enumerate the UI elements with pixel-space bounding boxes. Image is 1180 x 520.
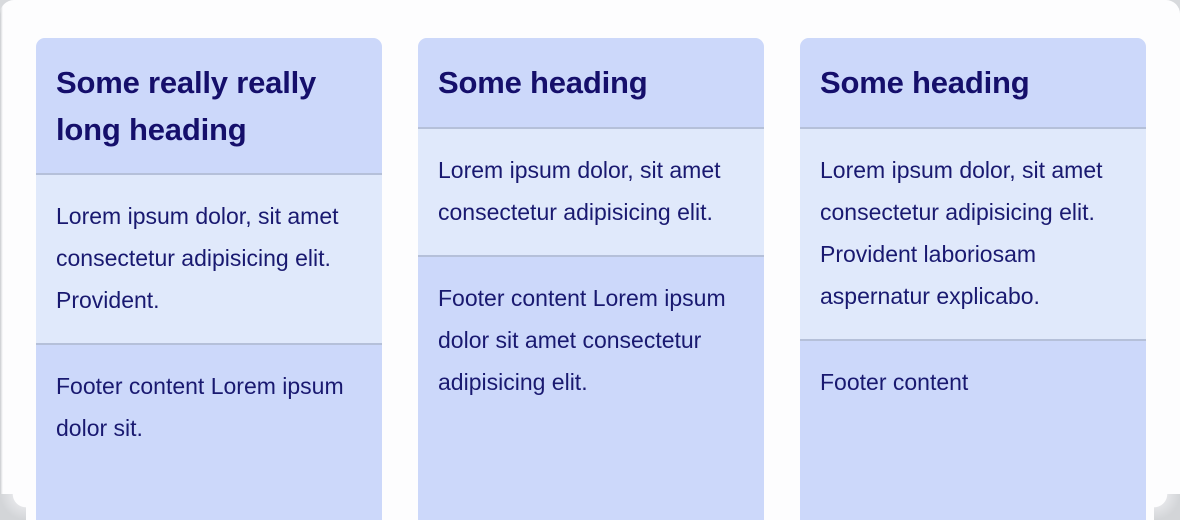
card-heading: Some really really long heading [56,60,362,153]
card-body: Lorem ipsum dolor, sit amet consectetur … [800,129,1146,341]
card-body-text: Lorem ipsum dolor, sit amet consectetur … [56,195,362,321]
card-footer-text: Footer content [820,361,1126,403]
card-body-text: Lorem ipsum dolor, sit amet consectetur … [438,149,744,233]
card-row: Some really really long heading Lorem ip… [0,0,1180,520]
card-header: Some heading [418,38,764,129]
card-header: Some really really long heading [36,38,382,175]
card-footer: Footer content [800,341,1146,520]
card[interactable]: Some really really long heading Lorem ip… [36,38,382,520]
card-body: Lorem ipsum dolor, sit amet consectetur … [36,175,382,345]
page-viewport: Some really really long heading Lorem ip… [0,0,1180,520]
card-footer-text: Footer content Lorem ipsum dolor sit. [56,365,362,449]
card-footer: Footer content Lorem ipsum dolor sit ame… [418,257,764,520]
card-footer: Footer content Lorem ipsum dolor sit. [36,345,382,520]
card[interactable]: Some heading Lorem ipsum dolor, sit amet… [418,38,764,520]
card-heading: Some heading [820,60,1126,107]
card-header: Some heading [800,38,1146,129]
card-body-text: Lorem ipsum dolor, sit amet consectetur … [820,149,1126,317]
card-body: Lorem ipsum dolor, sit amet consectetur … [418,129,764,257]
card-heading: Some heading [438,60,744,107]
card[interactable]: Some heading Lorem ipsum dolor, sit amet… [800,38,1146,520]
card-footer-text: Footer content Lorem ipsum dolor sit ame… [438,277,744,403]
